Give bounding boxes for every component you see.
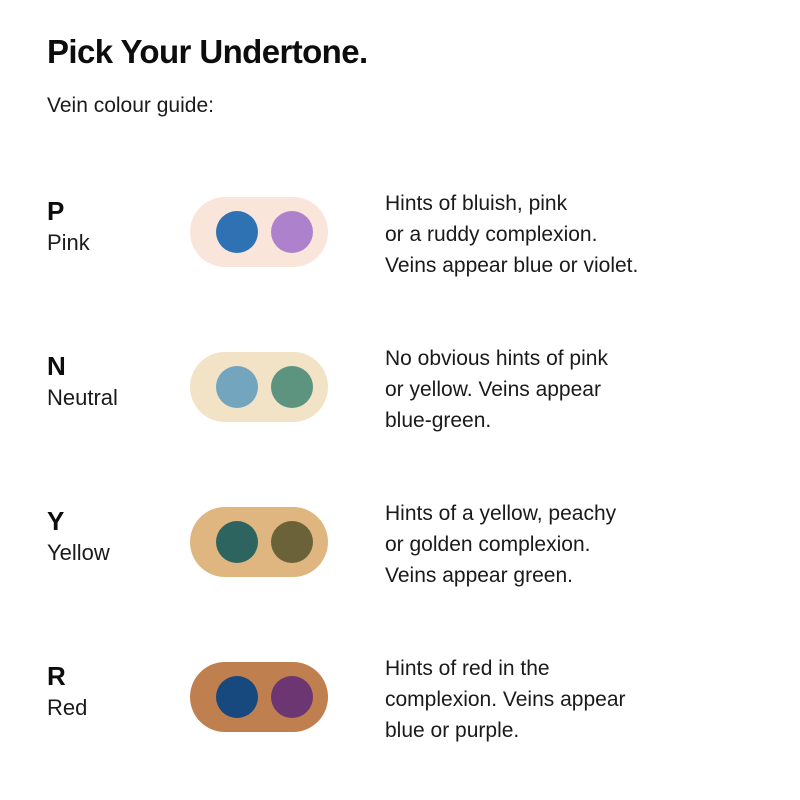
- vein-swatch-pill-yellow: [190, 507, 328, 577]
- vein-swatch-pill-red: [190, 662, 328, 732]
- description-line: Veins appear green.: [385, 560, 755, 591]
- vein-dot-left: [216, 676, 258, 718]
- vein-dot-right: [271, 366, 313, 408]
- vein-dot-right: [271, 521, 313, 563]
- header: Pick Your Undertone. Vein colour guide:: [47, 34, 757, 118]
- row-description-pink: Hints of bluish, pink or a ruddy complex…: [385, 188, 755, 281]
- description-line: or golden complexion.: [385, 529, 755, 560]
- row-letter: R: [47, 663, 177, 690]
- page-subtitle: Vein colour guide:: [47, 70, 757, 118]
- row-label-red: R Red: [47, 663, 177, 722]
- description-line: or a ruddy complexion.: [385, 219, 755, 250]
- row-letter: N: [47, 353, 177, 380]
- row-description-neutral: No obvious hints of pink or yellow. Vein…: [385, 343, 755, 436]
- description-line: blue-green.: [385, 405, 755, 436]
- vein-dot-group: [216, 211, 313, 253]
- description-line: Hints of a yellow, peachy: [385, 498, 755, 529]
- vein-dot-left: [216, 366, 258, 408]
- page-title: Pick Your Undertone.: [47, 34, 757, 70]
- vein-dot-left: [216, 211, 258, 253]
- vein-dot-right: [271, 211, 313, 253]
- description-line: complexion. Veins appear: [385, 684, 755, 715]
- undertone-row-pink: P Pink Hints of bluish, pink or a ruddy …: [0, 172, 800, 327]
- undertone-row-yellow: Y Yellow Hints of a yellow, peachy or go…: [0, 482, 800, 637]
- row-name: Yellow: [47, 535, 177, 567]
- vein-dot-group: [216, 676, 313, 718]
- vein-swatch-pill-neutral: [190, 352, 328, 422]
- vein-dot-right: [271, 676, 313, 718]
- row-name: Red: [47, 690, 177, 722]
- row-description-red: Hints of red in the complexion. Veins ap…: [385, 653, 755, 746]
- row-letter: P: [47, 198, 177, 225]
- vein-swatch-pill-pink: [190, 197, 328, 267]
- undertone-row-neutral: N Neutral No obvious hints of pink or ye…: [0, 327, 800, 482]
- description-line: Hints of red in the: [385, 653, 755, 684]
- row-description-yellow: Hints of a yellow, peachy or golden comp…: [385, 498, 755, 591]
- description-line: blue or purple.: [385, 715, 755, 746]
- description-line: No obvious hints of pink: [385, 343, 755, 374]
- description-line: or yellow. Veins appear: [385, 374, 755, 405]
- undertone-row-red: R Red Hints of red in the complexion. Ve…: [0, 637, 800, 792]
- vein-dot-left: [216, 521, 258, 563]
- row-name: Neutral: [47, 380, 177, 412]
- row-name: Pink: [47, 225, 177, 257]
- description-line: Hints of bluish, pink: [385, 188, 755, 219]
- row-letter: Y: [47, 508, 177, 535]
- vein-dot-group: [216, 521, 313, 563]
- row-label-pink: P Pink: [47, 198, 177, 257]
- row-label-yellow: Y Yellow: [47, 508, 177, 567]
- vein-dot-group: [216, 366, 313, 408]
- undertone-row-list: P Pink Hints of bluish, pink or a ruddy …: [0, 172, 800, 792]
- description-line: Veins appear blue or violet.: [385, 250, 755, 281]
- undertone-guide-page: Pick Your Undertone. Vein colour guide: …: [0, 0, 800, 800]
- row-label-neutral: N Neutral: [47, 353, 177, 412]
